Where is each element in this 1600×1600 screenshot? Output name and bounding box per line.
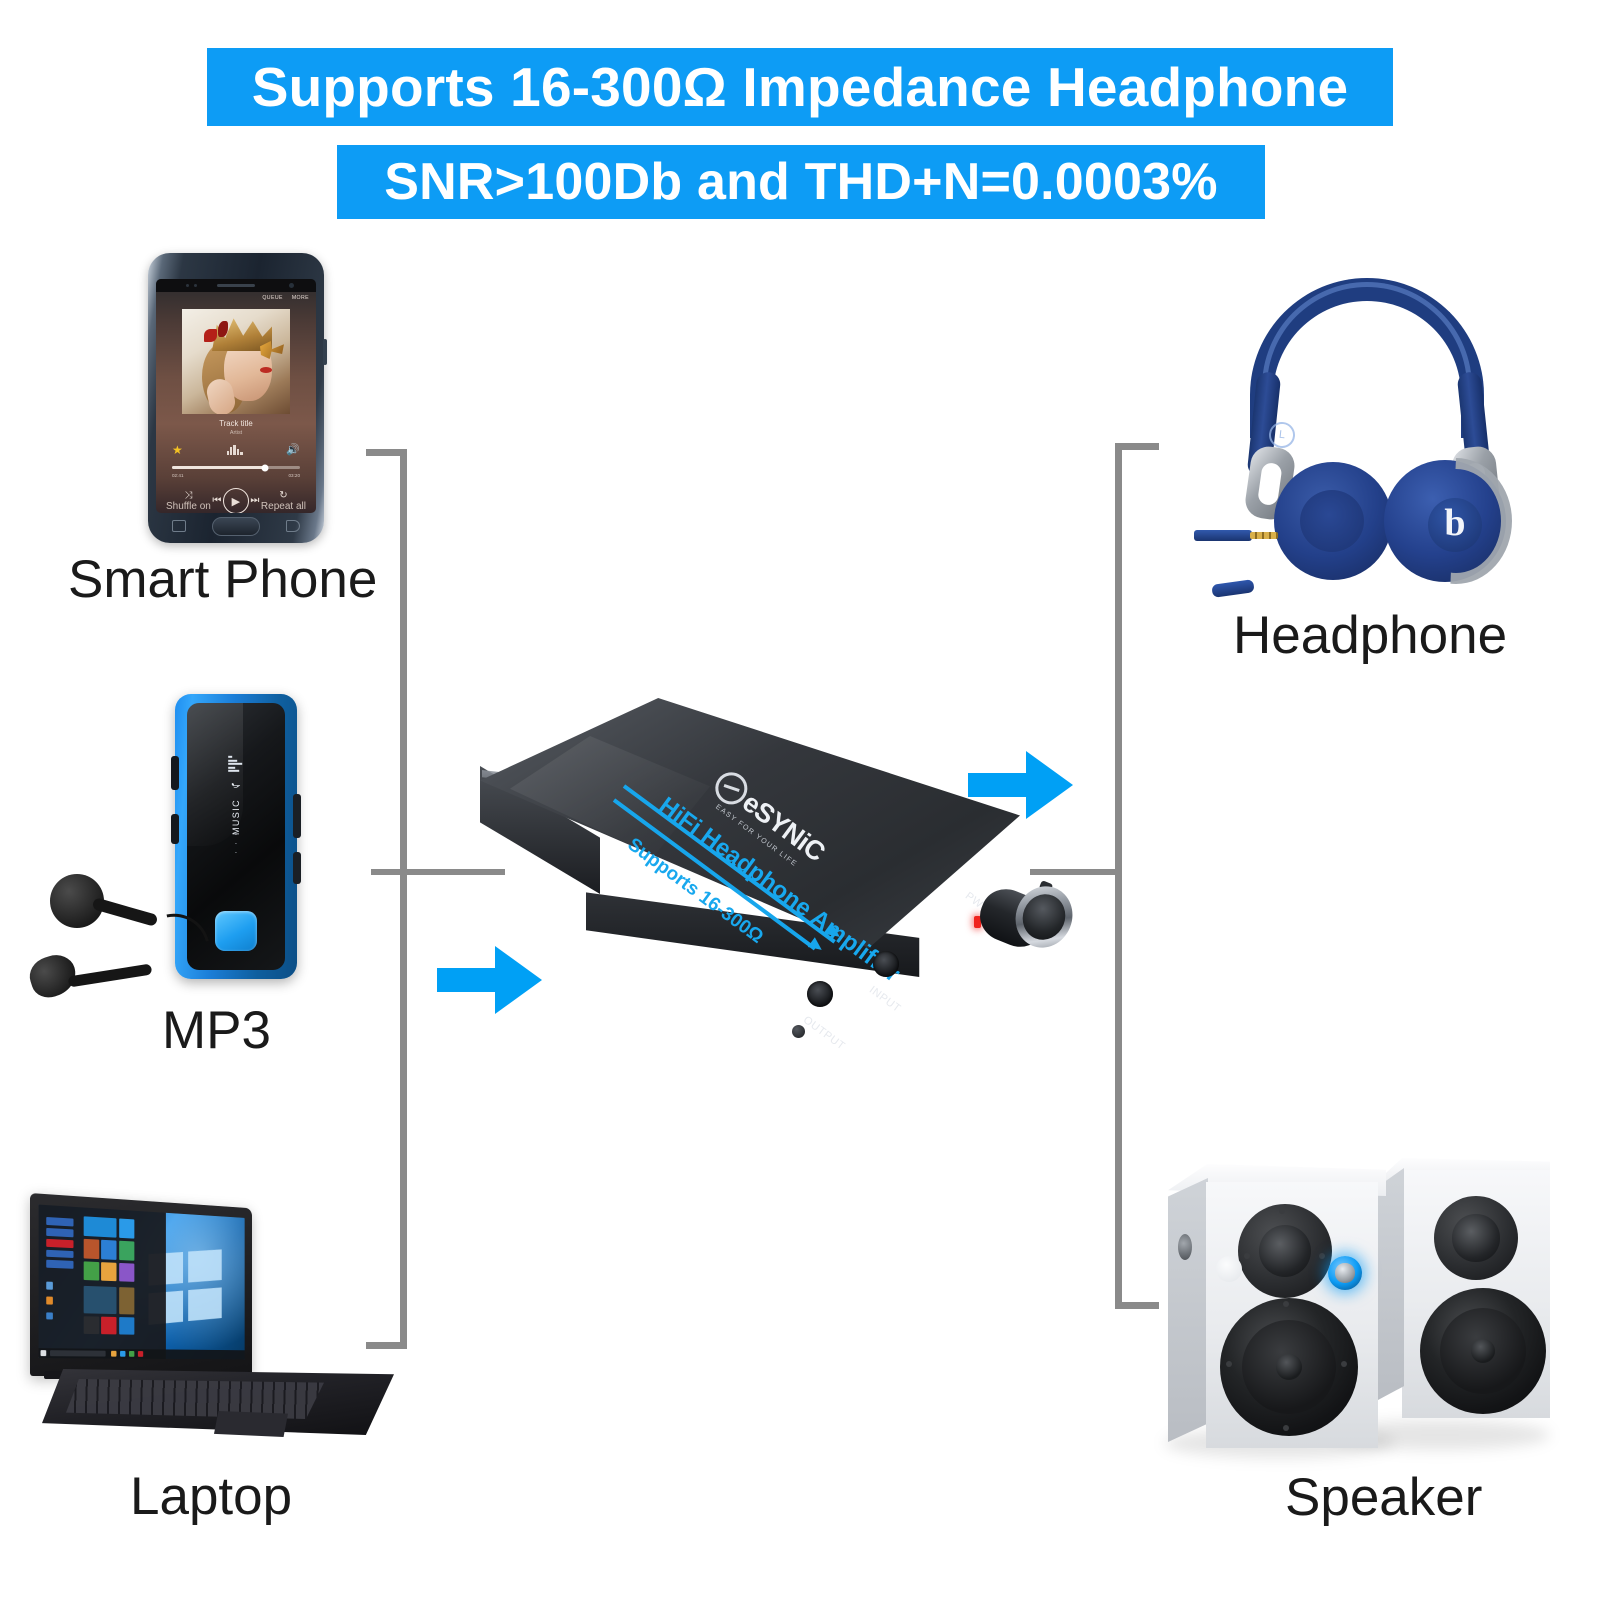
taskbar-app-icon[interactable] <box>129 1351 134 1357</box>
start-tile[interactable] <box>83 1286 116 1314</box>
speaker-screw <box>1226 1361 1232 1367</box>
smart-phone-device: QUEUE MORE Track title Artist ★ <box>148 253 324 543</box>
start-tile[interactable] <box>101 1317 116 1335</box>
start-tile[interactable] <box>119 1219 134 1239</box>
taskbar-app-icon[interactable] <box>138 1351 143 1357</box>
mp3-equalizer-icon <box>228 756 244 772</box>
right-bracket-vertical <box>1115 443 1122 1309</box>
laptop-keyboard[interactable] <box>66 1379 324 1419</box>
taskbar-app-icon[interactable] <box>120 1351 125 1357</box>
laptop-device: hp <box>14 1193 414 1448</box>
next-track-icon[interactable]: ⏭ <box>250 496 259 506</box>
speaker-right-woofer <box>1420 1288 1546 1414</box>
mp3-dots-indicator: · · · <box>232 833 241 855</box>
time-total: 03:20 <box>289 473 301 478</box>
start-list-item[interactable] <box>47 1260 73 1269</box>
track-title: Track title <box>156 419 316 428</box>
volume-knob[interactable] <box>980 886 1072 952</box>
output-jack[interactable] <box>807 981 833 1007</box>
taskbar-app-icon[interactable] <box>111 1351 116 1357</box>
caption-speaker: Speaker <box>1285 1467 1482 1528</box>
queue-button[interactable]: QUEUE <box>262 295 282 301</box>
speaker-screw <box>1341 1361 1347 1367</box>
start-list-item[interactable] <box>47 1239 73 1248</box>
mp3-display-content: ♪ MUSIC · · · <box>210 756 262 874</box>
more-button[interactable]: MORE <box>292 295 309 301</box>
speaker-screw <box>1283 1301 1289 1307</box>
laptop-screen <box>39 1205 245 1360</box>
speaker-left-woofer-cone <box>1242 1320 1336 1414</box>
taskbar-search-box[interactable] <box>50 1350 106 1356</box>
player-icon-row: ★ 🔊 <box>172 443 300 457</box>
speaker-left <box>1168 1164 1386 1454</box>
headphone-3-5mm-plug-icon <box>1250 532 1278 539</box>
earbud-cable-stem-left <box>68 963 153 987</box>
speaker-right-tweeter-dome <box>1452 1214 1499 1261</box>
start-tile[interactable] <box>83 1239 98 1259</box>
mp3-right-button-top[interactable] <box>293 794 301 838</box>
album-art-red-accent-1 <box>204 329 217 342</box>
seek-bar[interactable] <box>172 466 300 469</box>
beats-b-glyph: b <box>1444 504 1465 542</box>
speaker-right <box>1378 1158 1550 1428</box>
start-tile[interactable] <box>101 1240 116 1260</box>
speaker-right-tweeter <box>1434 1196 1518 1280</box>
taskbar[interactable] <box>39 1348 245 1359</box>
favorite-star-icon[interactable]: ★ <box>172 444 183 456</box>
speaker-pair <box>1140 1130 1550 1460</box>
phone-sensor-icon <box>186 284 189 287</box>
laptop-lid: hp <box>30 1193 252 1376</box>
infographic-canvas: Supports 16-300Ω Impedance Headphone SNR… <box>0 0 1600 1600</box>
mp3-side-button-top[interactable] <box>171 756 179 790</box>
mp3-side-button-bottom[interactable] <box>171 814 179 844</box>
caption-laptop: Laptop <box>130 1466 292 1527</box>
phone-body: QUEUE MORE Track title Artist ★ <box>148 253 324 543</box>
speaker-screw <box>1244 1253 1250 1259</box>
speaker-volume-knob[interactable] <box>1328 1256 1362 1290</box>
start-tile[interactable] <box>83 1217 116 1238</box>
caption-smart-phone: Smart Phone <box>68 549 377 610</box>
shuffle-control[interactable]: ⤨ Shuffle on <box>166 491 211 512</box>
spec-banner-impedance: Supports 16-300Ω Impedance Headphone <box>207 48 1393 126</box>
spec-banner-snr: SNR>100Db and THD+N=0.0003% <box>337 145 1265 219</box>
album-art-lips <box>260 367 272 373</box>
seek-bar-handle[interactable] <box>262 464 269 471</box>
input-jack[interactable] <box>873 951 899 977</box>
speaker-led-indicator <box>1216 1256 1242 1282</box>
album-art-red-accent-2 <box>218 321 228 337</box>
mp3-right-button-bottom[interactable] <box>293 852 301 884</box>
album-art <box>182 309 290 414</box>
play-button[interactable]: ▶ <box>223 488 249 513</box>
start-tile[interactable] <box>119 1263 134 1281</box>
start-list-item[interactable] <box>47 1297 54 1305</box>
start-tile[interactable] <box>119 1241 134 1261</box>
headphone-cable-jack-barrel <box>1194 530 1252 541</box>
amp-front-screw <box>792 1025 805 1038</box>
seek-bar-fill <box>172 466 265 469</box>
start-tile[interactable] <box>119 1287 134 1314</box>
start-tile[interactable] <box>119 1317 134 1335</box>
headphone-earcup-left <box>1274 462 1392 580</box>
speaker-screw <box>1319 1253 1325 1259</box>
mp3-music-note-icon: ♪ <box>228 782 245 790</box>
previous-track-icon[interactable]: ⏮ <box>212 496 221 506</box>
player-transport-controls: ⤨ Shuffle on ⏮ ▶ ⏭ ↻ Repeat all <box>166 488 306 513</box>
phone-sensor-icon-2 <box>194 284 197 287</box>
phone-recents-button[interactable] <box>172 520 186 532</box>
speaker-left-tweeter <box>1238 1204 1332 1298</box>
speaker-left-side <box>1168 1178 1208 1442</box>
phone-back-button[interactable] <box>286 520 300 532</box>
phone-front-camera-icon <box>289 283 294 288</box>
phone-screen: QUEUE MORE Track title Artist ★ <box>156 279 316 513</box>
track-artist: Artist <box>156 430 316 436</box>
shuffle-label: Shuffle on <box>166 502 211 512</box>
track-times: 02:41 03:20 <box>172 473 300 478</box>
speaker-left-woofer <box>1220 1298 1358 1436</box>
start-menu[interactable] <box>39 1205 167 1359</box>
speaker-right-woofer-dustcap <box>1471 1339 1495 1363</box>
mp3-mode-label: MUSIC <box>231 799 241 835</box>
left-bracket-top-stub <box>366 449 407 456</box>
output-label: OUTPUT <box>801 1014 847 1053</box>
repeat-label: Repeat all <box>261 502 306 512</box>
beats-b-logo-icon: b <box>1428 498 1482 552</box>
phone-power-button[interactable] <box>323 339 327 365</box>
phone-status-bar <box>156 279 316 292</box>
start-list-item[interactable] <box>47 1282 54 1290</box>
equalizer-icon[interactable] <box>227 445 243 455</box>
shuffle-icon[interactable]: ⤨ <box>184 491 192 501</box>
mp3-center-button[interactable] <box>215 911 257 951</box>
speaker-right-woofer-cone <box>1440 1308 1526 1394</box>
start-tile[interactable] <box>83 1316 98 1334</box>
headphone-amplifier-device: HiFi Headphone Amplifier Supports 16-300… <box>470 680 1090 1080</box>
caption-mp3: MP3 <box>162 1000 271 1061</box>
phone-earpiece-speaker <box>217 284 255 287</box>
start-list-item[interactable] <box>47 1249 73 1258</box>
caption-headphone: Headphone <box>1233 605 1507 666</box>
repeat-control[interactable]: ↻ Repeat all <box>261 491 306 512</box>
phone-home-button[interactable] <box>212 517 260 536</box>
start-list-item[interactable] <box>47 1312 54 1320</box>
laptop-touchpad[interactable] <box>214 1411 288 1437</box>
repeat-icon[interactable]: ↻ <box>279 491 287 501</box>
speaker-left-woofer-dustcap <box>1276 1354 1302 1380</box>
speaker-left-tweeter-dome <box>1259 1225 1312 1278</box>
speaker-screw <box>1283 1425 1289 1431</box>
start-list-item[interactable] <box>47 1228 73 1237</box>
volume-icon[interactable]: 🔊 <box>286 445 300 456</box>
start-tile[interactable] <box>101 1263 116 1282</box>
time-elapsed: 02:41 <box>172 473 184 478</box>
start-tile[interactable] <box>83 1262 98 1281</box>
start-button-icon[interactable] <box>41 1350 47 1356</box>
headphone-device: L b <box>1132 262 1552 602</box>
volume-knob-face <box>1016 888 1072 946</box>
input-label: INPUT <box>867 984 903 1015</box>
speaker-left-port <box>1178 1234 1192 1260</box>
start-list-item[interactable] <box>47 1217 73 1226</box>
player-top-menu: QUEUE MORE <box>262 295 309 301</box>
speaker-screw <box>1279 1208 1285 1214</box>
